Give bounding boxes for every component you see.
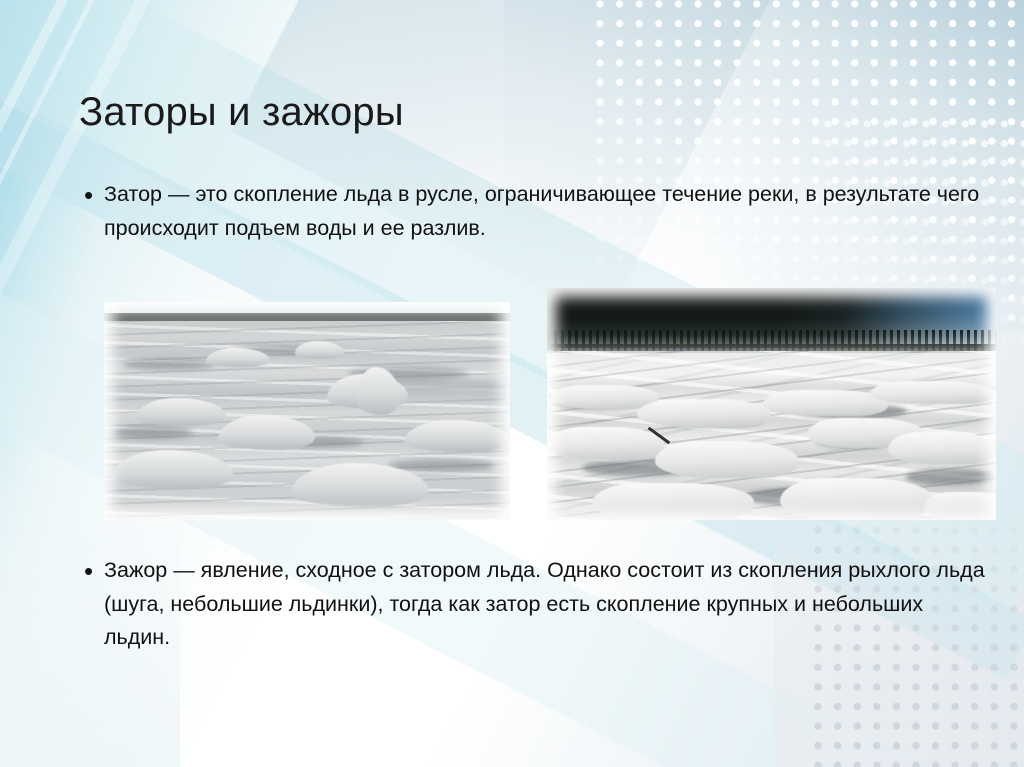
photo-right-ice-floe [637, 399, 772, 427]
photo-right-ice-floe [780, 478, 933, 520]
photo-right-ice-floe [870, 381, 996, 404]
photo-right-floe-shadow [906, 469, 996, 485]
bullet-item-zator: • Затор — это скопление льда в русле, ог… [82, 178, 994, 245]
photo-right-ice-floe [592, 483, 754, 520]
photo-right-ice-floe [924, 492, 996, 520]
photo-left-dark-patch [124, 359, 213, 370]
ice-jam-photo-left [104, 302, 510, 520]
photo-right-ice-floe [888, 432, 996, 464]
photo-right-ice-floe [547, 427, 664, 459]
photo-left-ice-hummock [295, 341, 344, 358]
slide-canvas: Заторы и зажоры • Затор — это скопление … [0, 0, 1024, 767]
ice-jam-photo-left-canvas [104, 302, 510, 520]
slide-content: Заторы и зажоры • Затор — это скопление … [0, 0, 1024, 767]
ice-jam-photo-right-canvas [547, 288, 996, 520]
ice-jam-photo-right [547, 288, 996, 520]
bullet-text-zazhor: Зажор — явление, сходное с затором льда.… [104, 554, 994, 655]
bullet-marker-icon: • [82, 178, 104, 212]
bullet-item-zazhor: • Зажор — явление, сходное с затором льд… [82, 554, 994, 655]
page-title: Заторы и зажоры [79, 88, 404, 136]
bullet-text-zator: Затор — это скопление льда в русле, огра… [104, 178, 994, 245]
bullet-marker-icon: • [82, 554, 104, 588]
photo-right-ice-floe [655, 441, 799, 478]
